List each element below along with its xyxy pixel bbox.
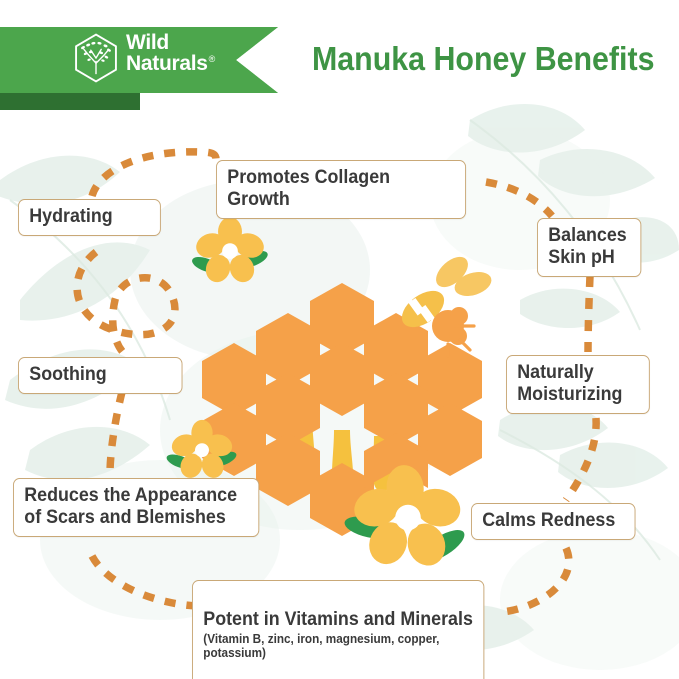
benefit-label-collagen[interactable]: Promotes Collagen Growth bbox=[216, 160, 466, 219]
infographic-canvas: Wild Naturals® Manuka Honey Benefits Hyd… bbox=[0, 0, 679, 679]
brand-logo[interactable]: Wild Naturals® bbox=[58, 28, 273, 88]
benefit-label-balances-ph[interactable]: Balances Skin pH bbox=[537, 218, 641, 277]
benefit-label-moisturizing[interactable]: Naturally Moisturizing bbox=[506, 355, 650, 414]
brand-name-line1: Wild bbox=[126, 31, 169, 54]
flower-icon bbox=[190, 217, 270, 286]
benefit-label-calms-redness[interactable]: Calms Redness bbox=[471, 503, 636, 540]
flower-icon bbox=[165, 420, 239, 481]
benefit-label-scars[interactable]: Reduces the Appearance of Scars and Blem… bbox=[13, 478, 259, 537]
benefit-label-hydrating[interactable]: Hydrating bbox=[18, 199, 161, 236]
registered-trademark-icon: ® bbox=[209, 54, 215, 64]
honey-drip-icon bbox=[283, 386, 391, 512]
benefit-label-soothing[interactable]: Soothing bbox=[18, 357, 183, 394]
flower-icon bbox=[343, 463, 469, 571]
hexagon-tree-logo-icon bbox=[70, 32, 122, 84]
brand-wordmark: Wild Naturals® bbox=[126, 32, 215, 74]
brand-name-line2: Naturals bbox=[126, 52, 208, 75]
benefit-label-vitamins-title: Potent in Vitamins and Minerals bbox=[203, 609, 473, 630]
benefit-label-vitamins[interactable]: Potent in Vitamins and Minerals (Vitamin… bbox=[192, 580, 484, 679]
benefit-label-vitamins-detail: (Vitamin B, zinc, iron, magnesium, coppe… bbox=[203, 632, 473, 660]
page-title: Manuka Honey Benefits bbox=[312, 40, 654, 78]
bee-icon bbox=[395, 251, 494, 356]
